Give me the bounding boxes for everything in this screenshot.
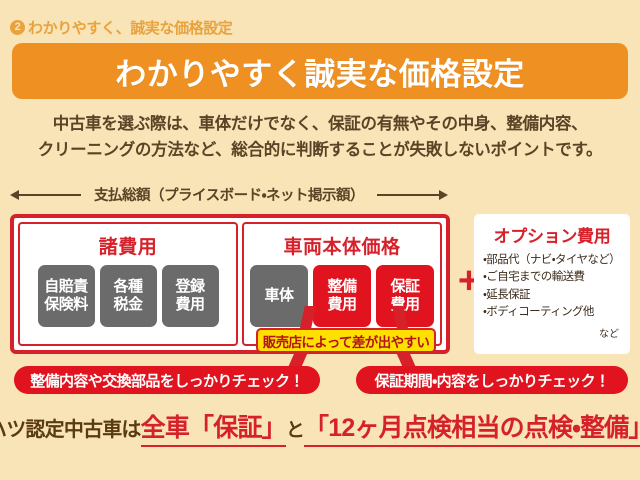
chip-maintenance-cost: 整備 費用 — [313, 265, 371, 327]
chip-line-1: 登録 — [175, 278, 204, 296]
infographic-page: 2 わかりやすく、誠実な価格設定 わかりやすく誠実な価格設定 中古車を選ぶ際は、… — [0, 0, 640, 480]
list-item: ・延長保証 — [483, 287, 621, 304]
arrow-right-icon — [370, 189, 448, 201]
chip-line-2: 保険料 — [44, 296, 88, 314]
panel-option-costs-title: オプション費用 — [483, 222, 621, 247]
chip-vehicle-body: 車体 — [250, 265, 308, 327]
check-banner-maintenance: 整備内容や交換部品をしっかりチェック！ — [14, 366, 320, 394]
list-item: ・ボディコーティング他 — [483, 304, 621, 321]
summary-highlight-warranty: 全車「保証」 — [141, 408, 286, 447]
chip-line-1: 各種 — [113, 278, 142, 296]
option-cost-footnote: など — [483, 325, 621, 340]
lead-line-2: クリーニングの方法など、総合的に判断することが失敗しないポイントです。 — [0, 138, 640, 164]
dealer-variation-callout-text: 販売店によって差が出やすい — [263, 331, 430, 351]
chip-taxes: 各種 税金 — [100, 265, 157, 327]
summary-conjunction: と — [286, 415, 304, 442]
chip-line-1: 自賠責 — [44, 278, 88, 296]
section-eyebrow: 2 わかりやすく、誠実な価格設定 — [10, 17, 232, 38]
chip-line-1: 整備 — [327, 278, 356, 296]
panel-vehicle-price-chips: 車体 整備 費用 保証 費用 — [250, 265, 434, 327]
list-item: ・部品代（ナビ・タイヤなど） — [483, 252, 621, 269]
check-banner-warranty-text: 保証期間・内容をしっかりチェック！ — [375, 370, 610, 391]
section-eyebrow-label: わかりやすく、誠実な価格設定 — [28, 17, 232, 38]
summary-prefix: ダイハツ認定中古車は — [0, 413, 141, 442]
lead-paragraph: 中古車を選ぶ際は、車体だけでなく、保証の有無やその中身、整備内容、 クリーニング… — [0, 112, 640, 163]
chip-compulsory-insurance: 自賠責 保険料 — [38, 265, 95, 327]
option-cost-list: ・部品代（ナビ・タイヤなど） ・ご自宅までの輸送費 ・延長保証 ・ボディコーティ… — [483, 252, 621, 321]
chip-line-1: 車体 — [264, 287, 293, 305]
headline-banner-title: わかりやすく誠実な価格設定 — [115, 49, 525, 94]
total-price-label: 支払総額（プライスボード・ネット掲示額） — [94, 184, 364, 205]
panel-misc-fees: 諸費用 自賠責 保険料 各種 税金 登録 費用 — [18, 222, 238, 346]
summary-highlight-inspection: 「12ヶ月点検相当の点検・整備」 — [304, 408, 640, 447]
arrow-left-icon — [10, 189, 88, 201]
chip-registration-fee: 登録 費用 — [162, 265, 219, 327]
chip-line-2: 税金 — [113, 296, 142, 314]
chip-line-1: 保証 — [390, 278, 419, 296]
check-banner-maintenance-text: 整備内容や交換部品をしっかりチェック！ — [30, 370, 304, 391]
panel-misc-fees-title: 諸費用 — [99, 232, 158, 259]
list-item: ・ご自宅までの輸送費 — [483, 269, 621, 286]
chip-line-2: 費用 — [327, 296, 356, 314]
section-number-badge: 2 — [10, 20, 25, 35]
lead-line-1: 中古車を選ぶ際は、車体だけでなく、保証の有無やその中身、整備内容、 — [0, 112, 640, 138]
chip-line-2: 費用 — [175, 296, 204, 314]
panel-option-costs: オプション費用 ・部品代（ナビ・タイヤなど） ・ご自宅までの輸送費 ・延長保証 … — [474, 214, 630, 354]
panel-vehicle-price-title: 車両本体価格 — [283, 232, 400, 259]
headline-banner: わかりやすく誠実な価格設定 — [12, 43, 628, 99]
summary-line: ダイハツ認定中古車は 全車「保証」 と 「12ヶ月点検相当の点検・整備」 付き — [0, 408, 640, 447]
total-price-bracket: 支払総額（プライスボード・ネット掲示額） — [10, 184, 448, 205]
panel-misc-fees-chips: 自賠責 保険料 各種 税金 登録 費用 — [38, 265, 219, 327]
dealer-variation-callout: 販売店によって差が出やすい — [256, 328, 436, 353]
check-banner-warranty: 保証期間・内容をしっかりチェック！ — [356, 366, 628, 394]
